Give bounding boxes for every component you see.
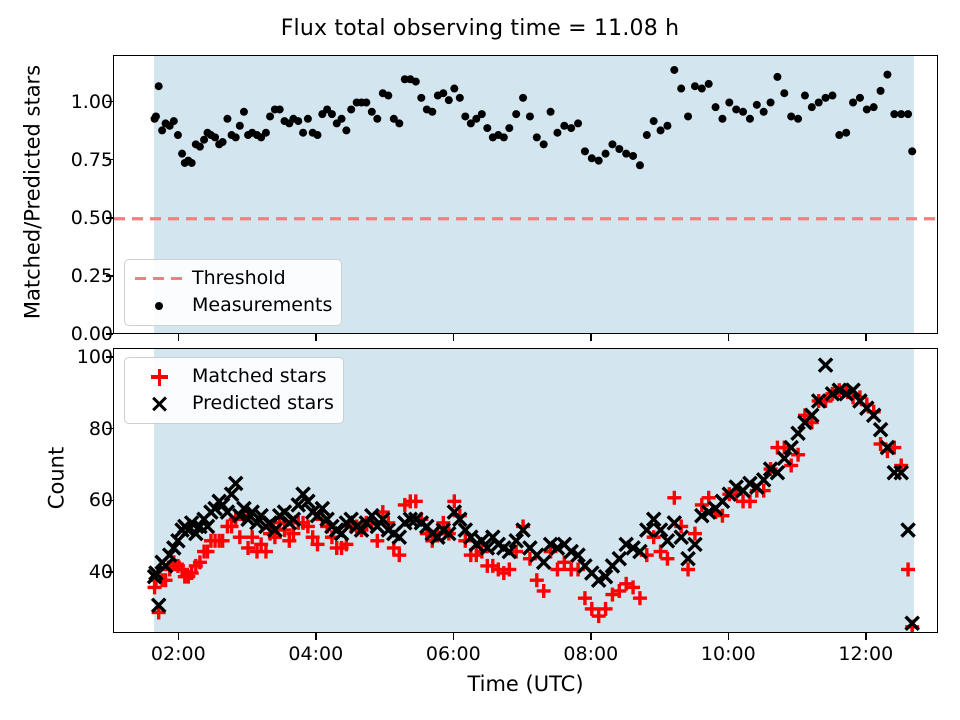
measurement-point <box>904 110 912 118</box>
measurement-point <box>412 78 420 86</box>
measurement-point <box>240 108 248 116</box>
measurement-point <box>533 133 541 141</box>
ytick-mark <box>106 500 113 502</box>
measurement-point <box>368 108 376 116</box>
measurement-point <box>608 140 616 148</box>
measurement-point <box>622 150 630 158</box>
predicted-star-point <box>393 531 406 544</box>
cross-marker-icon <box>134 393 186 415</box>
dashed-line-icon <box>134 268 186 290</box>
measurement-point <box>152 112 160 120</box>
measurement-point <box>725 99 733 107</box>
measurement-point <box>643 131 651 139</box>
matched-star-point <box>578 591 592 605</box>
legend-label-measurements: Measurements <box>186 293 332 318</box>
measurement-point <box>877 87 885 95</box>
matched-star-point <box>537 584 551 598</box>
top-panel-legend: Threshold Measurements <box>124 259 342 326</box>
matched-star-point <box>660 552 674 566</box>
measurement-point <box>636 161 644 169</box>
measurement-point <box>908 147 916 155</box>
measurement-point <box>560 122 568 130</box>
measurement-point <box>581 147 589 155</box>
measurement-point <box>395 119 403 127</box>
measurement-point <box>178 150 186 158</box>
matched-star-point <box>550 562 564 576</box>
legend-item-measurements[interactable]: Measurements <box>134 292 332 319</box>
ytick-mark <box>106 275 113 277</box>
measurement-point <box>196 143 204 151</box>
measurement-point <box>526 112 534 120</box>
measurement-point <box>691 82 699 90</box>
measurement-point <box>304 115 312 123</box>
matched-star-point <box>585 602 599 616</box>
xtick-mark <box>728 633 730 640</box>
measurement-point <box>294 117 302 125</box>
measurement-point <box>746 115 754 123</box>
matched-star-point <box>599 602 613 616</box>
measurement-point <box>842 129 850 137</box>
matched-star-point <box>233 530 247 544</box>
measurement-point <box>897 110 905 118</box>
measurement-point <box>595 157 603 165</box>
measurement-point <box>822 94 830 102</box>
measurement-point <box>801 92 809 100</box>
plus-marker-icon <box>134 366 186 388</box>
measurement-point <box>483 124 491 132</box>
measurement-point <box>211 133 219 141</box>
measurement-point <box>500 133 508 141</box>
measurement-point <box>174 131 182 139</box>
measurement-point <box>158 126 166 134</box>
xtick-mark-top <box>453 334 455 341</box>
measurement-point <box>328 110 336 118</box>
measurement-point <box>835 131 843 139</box>
measurement-point <box>574 119 582 127</box>
predicted-star-point <box>613 552 626 565</box>
legend-label-predicted-stars: Predicted stars <box>186 391 334 416</box>
xtick-label: 06:00 <box>393 643 513 665</box>
predicted-star-point <box>819 359 832 372</box>
legend-item-threshold[interactable]: Threshold <box>134 265 332 292</box>
ytick-mark <box>106 217 113 219</box>
measurement-point <box>684 112 692 120</box>
measurement-point <box>505 124 513 132</box>
legend-label-threshold: Threshold <box>186 266 286 291</box>
matched-star-point <box>901 562 915 576</box>
measurement-point <box>780 89 788 97</box>
dot-marker-icon <box>134 295 186 317</box>
legend-item-matched-stars[interactable]: Matched stars <box>134 363 334 390</box>
measurement-point <box>773 73 781 81</box>
measurement-point <box>347 105 355 113</box>
xtick-mark-top <box>178 334 180 341</box>
measurement-point <box>478 110 486 118</box>
predicted-star-point <box>537 556 550 569</box>
matched-star-point <box>592 609 606 623</box>
matched-star-point <box>667 491 681 505</box>
legend-label-matched-stars: Matched stars <box>186 364 326 389</box>
xtick-mark <box>453 633 455 640</box>
ytick-mark <box>106 333 113 335</box>
measurement-point <box>670 66 678 74</box>
measurement-point <box>314 131 322 139</box>
measurement-point <box>219 138 227 146</box>
measurement-point <box>602 150 610 158</box>
measurement-point <box>445 96 453 104</box>
measurement-point <box>540 140 548 148</box>
measurement-point <box>200 136 208 144</box>
measurement-point <box>450 85 458 93</box>
xtick-label: 02:00 <box>118 643 238 665</box>
measurement-point <box>698 85 706 93</box>
measurement-point <box>794 115 802 123</box>
measurement-point <box>567 124 575 132</box>
xtick-label: 12:00 <box>806 643 926 665</box>
xtick-label: 10:00 <box>668 643 788 665</box>
measurement-point <box>553 129 561 137</box>
measurement-point <box>663 122 671 130</box>
measurement-point <box>883 71 891 79</box>
ytick-mark <box>106 159 113 161</box>
measurement-point <box>342 126 350 134</box>
measurement-point <box>384 92 392 100</box>
xtick-mark <box>865 633 867 640</box>
page-title: Flux total observing time = 11.08 h <box>0 16 960 41</box>
ytick-mark <box>106 356 113 358</box>
measurement-point <box>362 99 370 107</box>
measurement-point <box>615 145 623 153</box>
xtick-mark-top <box>315 334 317 341</box>
measurement-point <box>657 126 665 134</box>
measurement-point <box>815 99 823 107</box>
xtick-mark-top <box>728 334 730 341</box>
measurement-point <box>863 105 871 113</box>
measurement-point <box>629 152 637 160</box>
measurement-point <box>808 103 816 111</box>
measurement-point <box>705 80 713 88</box>
predicted-star-point <box>874 423 887 436</box>
matched-star-point <box>530 573 544 587</box>
measurement-point <box>753 101 761 109</box>
measurement-point <box>890 110 898 118</box>
bottom-panel-legend: Matched stars Predicted stars <box>124 357 344 424</box>
xaxis-label: Time (UTC) <box>113 672 938 696</box>
ytick-mark <box>106 571 113 573</box>
xtick-mark <box>590 633 592 640</box>
xtick-mark <box>315 633 317 640</box>
measurement-point <box>760 108 768 116</box>
measurement-point <box>223 115 231 123</box>
xtick-label: 08:00 <box>531 643 651 665</box>
ytick-mark <box>106 101 113 103</box>
xtick-mark-top <box>865 334 867 341</box>
measurement-point <box>519 94 527 102</box>
measurement-point <box>870 103 878 111</box>
matched-star-point <box>633 591 647 605</box>
measurement-point <box>428 108 436 116</box>
measurement-point <box>338 115 346 123</box>
measurement-point <box>588 154 596 162</box>
measurement-point <box>718 115 726 123</box>
xtick-label: 04:00 <box>256 643 376 665</box>
measurement-point <box>739 108 747 116</box>
xtick-mark-top <box>590 334 592 341</box>
measurement-point <box>512 110 520 118</box>
ytick-mark <box>106 428 113 430</box>
predicted-star-point <box>901 523 914 536</box>
measurement-point <box>767 99 775 107</box>
measurement-point <box>712 103 720 111</box>
xtick-mark <box>178 633 180 640</box>
measurement-point <box>677 85 685 93</box>
measurement-point <box>155 82 163 90</box>
legend-item-predicted-stars[interactable]: Predicted stars <box>134 390 334 417</box>
measurement-point <box>547 108 555 116</box>
figure-canvas: Flux total observing time = 11.08 h Matc… <box>0 0 960 720</box>
measurement-point <box>170 117 178 125</box>
measurement-point <box>849 99 857 107</box>
measurement-point <box>266 112 274 120</box>
measurement-point <box>856 94 864 102</box>
measurement-point <box>262 129 270 137</box>
measurement-point <box>461 112 469 120</box>
measurement-point <box>236 122 244 130</box>
measurement-point <box>732 105 740 113</box>
measurement-point <box>650 117 658 125</box>
measurement-point <box>299 129 307 137</box>
measurement-point <box>417 94 425 102</box>
measurement-point <box>188 159 196 167</box>
measurement-point <box>276 105 284 113</box>
measurement-point <box>787 112 795 120</box>
measurement-point <box>232 133 240 141</box>
measurement-point <box>828 92 836 100</box>
measurement-point <box>373 115 381 123</box>
measurement-point <box>439 89 447 97</box>
measurement-point <box>456 94 464 102</box>
